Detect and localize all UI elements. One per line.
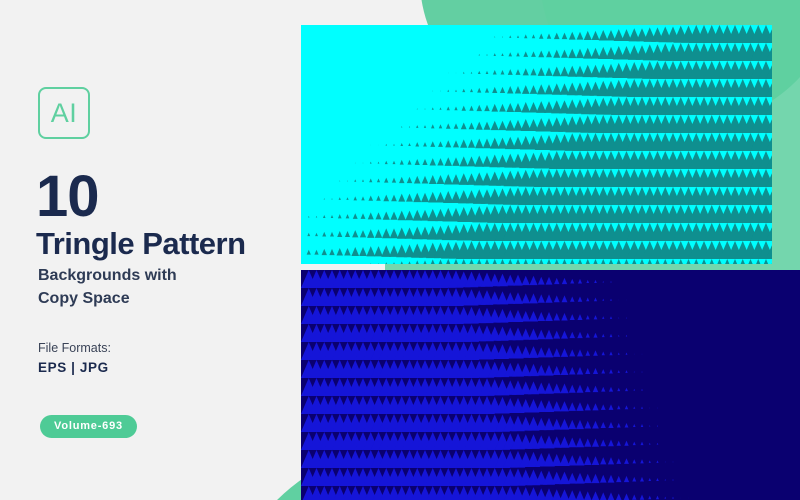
cyan-triangle-panel	[301, 25, 772, 264]
cyan-triangle-pattern	[301, 25, 772, 264]
file-formats-label: File Formats:	[38, 341, 111, 355]
page-subtitle: Backgrounds withCopy Space	[38, 264, 288, 310]
volume-badge: Volume-693	[40, 415, 137, 438]
info-column: AI 10 Tringle Pattern Backgrounds withCo…	[38, 0, 298, 500]
poster-canvas: AI 10 Tringle Pattern Backgrounds withCo…	[0, 0, 800, 500]
navy-triangle-panel	[301, 270, 800, 500]
page-title: Tringle Pattern	[36, 228, 246, 261]
adobe-illustrator-badge-label: AI	[51, 98, 78, 129]
adobe-illustrator-badge: AI	[38, 87, 90, 139]
navy-triangle-pattern	[301, 270, 800, 500]
pack-count: 10	[36, 168, 99, 226]
file-formats-value: EPS | JPG	[38, 360, 109, 375]
